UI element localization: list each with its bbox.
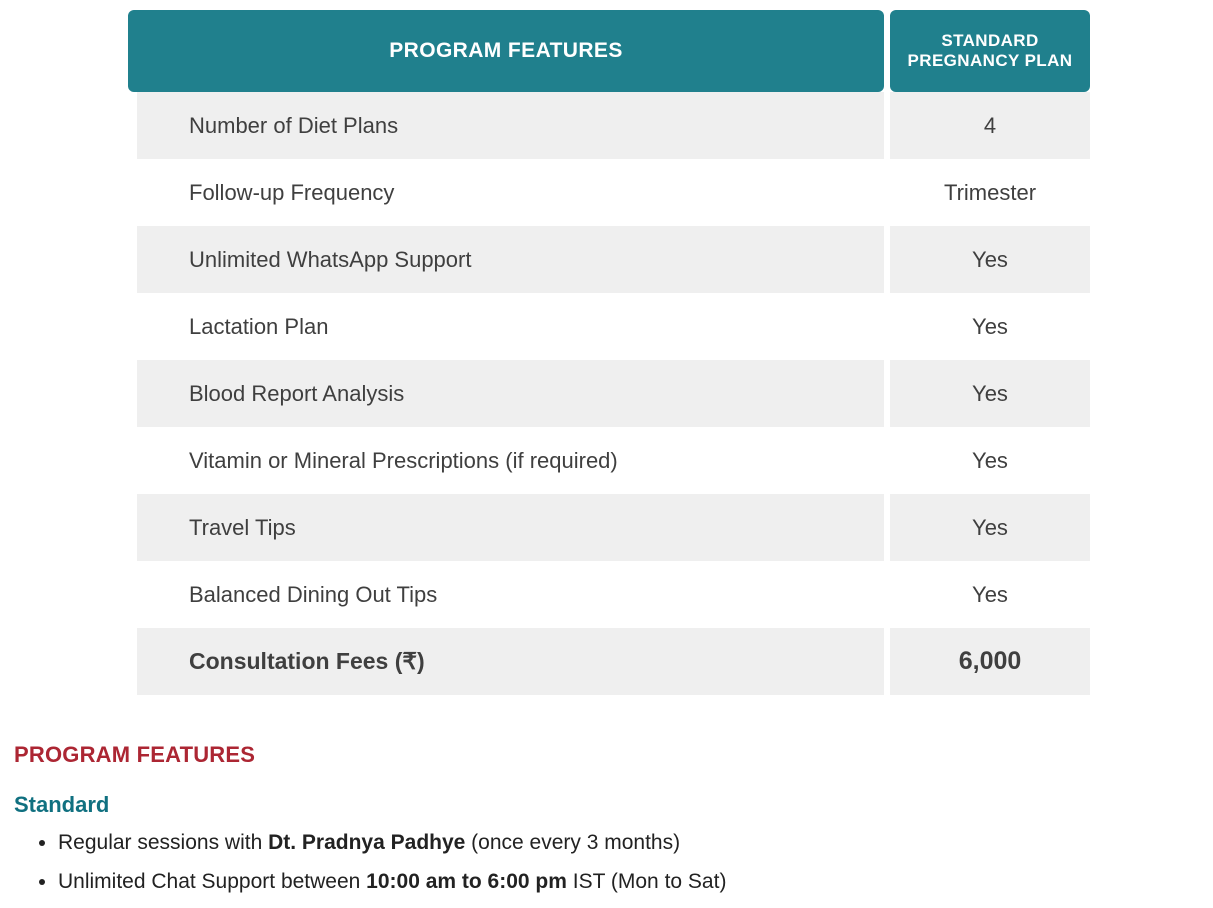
plan-value: Yes [890,293,1090,360]
plan-value: Trimester [890,159,1090,226]
header-label-plan-line2: PREGNANCY PLAN [908,51,1073,71]
bullet-text-pre: Unlimited Chat Support between [58,870,366,893]
header-label-program-features: PROGRAM FEATURES [128,10,884,92]
plan-value-cell: 4 [890,92,1090,159]
table-header: PROGRAM FEATURES STANDARD PREGNANCY PLAN [128,10,1090,92]
plan-value-cell: Yes [890,427,1090,494]
plan-value-cell: 6,000 [890,628,1090,695]
plan-value-cell: Yes [890,226,1090,293]
list-item: Regular sessions with Dt. Pradnya Padhye… [58,824,1194,863]
header-cell-program-features: PROGRAM FEATURES [128,10,884,92]
feature-cell: Consultation Fees (₹) [128,628,884,695]
table-row-consultation-fees: Consultation Fees (₹) 6,000 [128,628,1090,695]
consultation-fees-value: 6,000 [890,628,1090,695]
plan-value-cell: Yes [890,360,1090,427]
feature-cell: Vitamin or Mineral Prescriptions (if req… [128,427,884,494]
feature-label: Number of Diet Plans [137,92,884,159]
program-features-notes: PROGRAM FEATURES Standard Regular sessio… [14,742,1194,902]
header-label-plan: STANDARD PREGNANCY PLAN [890,10,1090,92]
feature-label: Travel Tips [137,494,884,561]
bullet-text-strong: Dt. Pradnya Padhye [268,831,465,854]
feature-cell: Balanced Dining Out Tips [128,561,884,628]
plan-value: Yes [890,561,1090,628]
feature-label: Balanced Dining Out Tips [137,561,884,628]
feature-label: Follow-up Frequency [137,159,884,226]
feature-cell: Blood Report Analysis [128,360,884,427]
feature-cell: Lactation Plan [128,293,884,360]
feature-label: Blood Report Analysis [137,360,884,427]
feature-cell: Number of Diet Plans [128,92,884,159]
plan-value-cell: Yes [890,494,1090,561]
feature-label: Unlimited WhatsApp Support [137,226,884,293]
bullet-text-post: IST (Mon to Sat) [567,870,727,893]
plan-value: Yes [890,226,1090,293]
feature-cell: Follow-up Frequency [128,159,884,226]
table-row: Travel Tips Yes [128,494,1090,561]
feature-label: Vitamin or Mineral Prescriptions (if req… [137,427,884,494]
bullet-text-pre: Regular sessions with [58,831,268,854]
table-row: Vitamin or Mineral Prescriptions (if req… [128,427,1090,494]
plan-value-cell: Yes [890,561,1090,628]
notes-plan-label: Standard [14,792,1194,818]
plan-comparison-table: PROGRAM FEATURES STANDARD PREGNANCY PLAN… [128,10,1090,695]
table-row: Lactation Plan Yes [128,293,1090,360]
plan-value-cell: Trimester [890,159,1090,226]
plan-value: Yes [890,494,1090,561]
feature-cell: Unlimited WhatsApp Support [128,226,884,293]
table-row: Unlimited WhatsApp Support Yes [128,226,1090,293]
page-root: PROGRAM FEATURES STANDARD PREGNANCY PLAN… [0,0,1213,908]
plan-value: Yes [890,360,1090,427]
notes-section-title: PROGRAM FEATURES [14,742,1194,768]
plan-value: Yes [890,427,1090,494]
bullet-text-strong: 10:00 am to 6:00 pm [366,870,567,893]
plan-value: 4 [890,92,1090,159]
feature-cell: Travel Tips [128,494,884,561]
header-cell-standard-pregnancy-plan: STANDARD PREGNANCY PLAN [890,10,1090,92]
table-row: Blood Report Analysis Yes [128,360,1090,427]
consultation-fees-label: Consultation Fees (₹) [137,628,884,695]
bullet-text-post: (once every 3 months) [465,831,680,854]
plan-value-cell: Yes [890,293,1090,360]
notes-bullet-list: Regular sessions with Dt. Pradnya Padhye… [14,824,1194,902]
plan-comparison-table-wrapper: PROGRAM FEATURES STANDARD PREGNANCY PLAN… [128,10,1090,695]
table-header-row: PROGRAM FEATURES STANDARD PREGNANCY PLAN [128,10,1090,92]
table-row: Balanced Dining Out Tips Yes [128,561,1090,628]
list-item: Unlimited Chat Support between 10:00 am … [58,863,1194,902]
header-label-plan-line1: STANDARD [941,31,1038,51]
table-body: Number of Diet Plans 4 Follow-up Frequen… [128,92,1090,695]
feature-label: Lactation Plan [137,293,884,360]
table-row: Number of Diet Plans 4 [128,92,1090,159]
table-row: Follow-up Frequency Trimester [128,159,1090,226]
